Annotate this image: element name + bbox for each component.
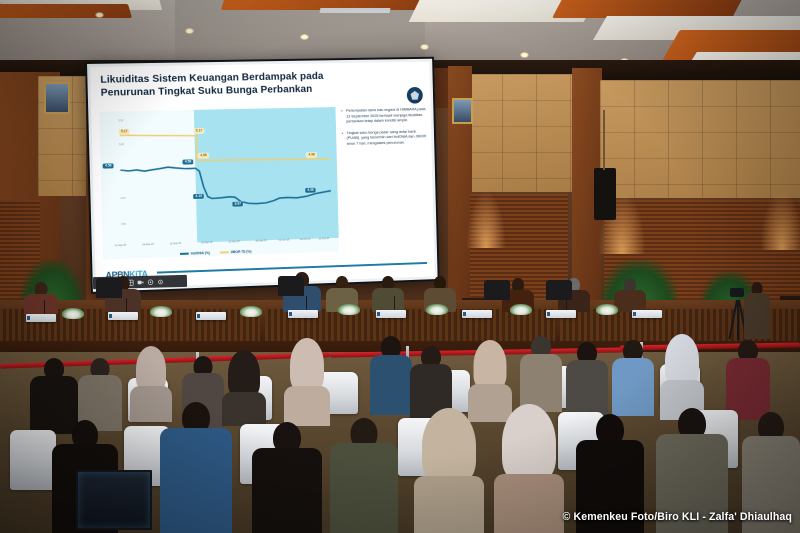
ceiling-speaker — [594, 168, 616, 220]
cameraman-body — [744, 293, 770, 339]
body — [566, 360, 608, 418]
nameplate — [26, 314, 56, 322]
nameplate — [546, 310, 576, 318]
nameplate — [288, 310, 318, 318]
series-line-jibor — [120, 131, 330, 165]
legend-swatch-jibor — [220, 252, 229, 254]
body — [252, 448, 322, 533]
audience-member — [726, 340, 770, 418]
legend-item-indonia: IndONIA (%) — [180, 251, 210, 256]
xtick-label-5: 26-Sep-25 — [255, 239, 266, 243]
panelist-chair — [484, 280, 510, 300]
table-flowers — [62, 308, 84, 319]
data-label-indonia-drop: 4.14 — [193, 194, 204, 200]
audience-member-foreground — [252, 422, 322, 533]
data-label-indonia-low: 3.97 — [232, 202, 243, 208]
data-label-jibor-end: 4.98 — [306, 152, 317, 158]
slide-title: Likuiditas Sistem Keuangan Berdampak pad… — [100, 69, 377, 100]
hijab — [228, 350, 260, 398]
chart-plot-area: 5.50 5.00 4.50 4.00 3.50 — [117, 113, 336, 233]
body — [370, 355, 412, 415]
body — [160, 428, 232, 533]
gear-icon[interactable] — [157, 278, 164, 285]
panelist-5 — [372, 276, 404, 310]
xtick-label-7: 06-Oct-25 — [300, 238, 311, 241]
panelist-body — [372, 288, 404, 312]
legend-swatch-indonia — [180, 253, 189, 255]
data-label-jibor-drop: 4.98 — [198, 153, 209, 159]
video-camera — [730, 288, 744, 297]
data-label-indonia-start: 4.56 — [103, 163, 114, 169]
audience-chair — [10, 430, 56, 490]
body — [330, 443, 398, 533]
hijab — [665, 334, 699, 386]
ytick-label-3: 4.00 — [120, 197, 125, 200]
xtick-label-0: 01-Sep-25 — [115, 244, 127, 248]
panelist-chair — [278, 276, 304, 296]
panelist-1 — [24, 282, 58, 312]
nameplate — [108, 312, 138, 320]
hijab — [474, 340, 507, 390]
official-portrait-left — [44, 82, 70, 114]
data-label-jibor-start: 5.17 — [119, 129, 130, 135]
table-flowers — [426, 304, 448, 315]
hijab — [502, 404, 556, 482]
projection-screen: Likuiditas Sistem Keuangan Berdampak pad… — [85, 57, 440, 294]
body — [612, 358, 654, 416]
audience-member — [78, 358, 122, 428]
audience-member-foreground — [160, 402, 232, 533]
panelist-body — [614, 290, 646, 312]
audience-member-hijab-foreground — [494, 404, 564, 533]
bullet-text-1: Penempatan dana kas negara di HIMBARA pa… — [346, 106, 428, 124]
cameraman — [744, 282, 770, 338]
body — [494, 474, 564, 533]
more-options-icon[interactable] — [147, 278, 154, 285]
audience-member-hijab — [660, 334, 704, 418]
audience-member — [566, 342, 608, 416]
photo-credit: © Kemenkeu Foto/Biro KLI - Zalfa' Dhiaul… — [563, 511, 792, 523]
ytick-label-4: 3.50 — [121, 223, 126, 226]
table-flowers — [596, 304, 618, 315]
table-flowers — [510, 304, 532, 315]
xtick-label-3: 18-Sep-25 — [201, 241, 213, 245]
body — [284, 386, 330, 426]
slide-bullet-2: • Tingkat suku bunga pasar uang antar ba… — [342, 128, 429, 146]
panelist-chair — [546, 280, 572, 300]
ytick-label-2: 4.50 — [120, 169, 125, 172]
audience-member-hijab-foreground — [414, 408, 484, 533]
audience-member-foreground — [330, 418, 398, 533]
table-flowers — [240, 306, 262, 317]
audience-member — [520, 336, 562, 410]
ytick-label-0: 5.50 — [118, 119, 123, 122]
xtick-label-6: 01-Oct-25 — [279, 238, 290, 241]
nameplate — [632, 310, 662, 318]
legend-item-jibor: JIBOR 7D (%) — [220, 250, 252, 255]
conference-hall-photo: Likuiditas Sistem Keuangan Berdampak pad… — [0, 0, 800, 533]
series-line-indonia — [121, 163, 332, 208]
laptop[interactable] — [76, 470, 152, 530]
table-flowers — [150, 306, 172, 317]
chart-legend: IndONIA (%) JIBOR 7D (%) — [180, 250, 252, 256]
chart-svg — [117, 113, 336, 233]
kemenkeu-logo — [407, 87, 423, 104]
slide-bullet-1: • Penempatan dana kas negara di HIMBARA … — [341, 106, 428, 124]
nameplate — [462, 310, 492, 318]
xtick-label-8: 11-Oct-25 — [319, 237, 330, 240]
slide-bullet-list: • Penempatan dana kas negara di HIMBARA … — [341, 106, 429, 152]
data-label-indonia-mid: 4.56 — [182, 159, 193, 165]
xtick-label-4: 21-Sep-25 — [228, 240, 239, 244]
official-portrait-right — [452, 98, 473, 124]
hijab — [422, 408, 476, 484]
audience-member-hijab — [284, 338, 330, 424]
chart-container: 5.50 5.00 4.50 4.00 3.50 5.17 5.17 4.98 … — [99, 107, 339, 259]
audience-member — [612, 340, 654, 414]
nameplate — [196, 312, 226, 320]
legend-label-indonia: IndONIA (%) — [191, 251, 210, 256]
body — [414, 476, 484, 533]
data-label-indonia-end: 4.06 — [305, 188, 316, 194]
legend-label-jibor: JIBOR 7D (%) — [230, 250, 251, 255]
xtick-label-1: 08-Sep-25 — [142, 243, 154, 247]
hijab — [290, 338, 324, 392]
xtick-label-2: 11-Sep-25 — [170, 242, 181, 246]
bullet-text-2: Tingkat suku bunga pasar uang antar bank… — [346, 128, 428, 146]
panelist-body — [24, 294, 58, 314]
presentation-slide: Likuiditas Sistem Keuangan Berdampak pad… — [90, 62, 435, 289]
panelist-9 — [614, 278, 646, 310]
data-label-jibor-mid: 5.17 — [193, 128, 204, 134]
audience-member — [370, 336, 412, 412]
ytick-label-1: 5.00 — [119, 143, 124, 146]
panelist-chair — [96, 278, 122, 298]
table-flowers — [338, 304, 360, 315]
nameplate — [376, 310, 406, 318]
